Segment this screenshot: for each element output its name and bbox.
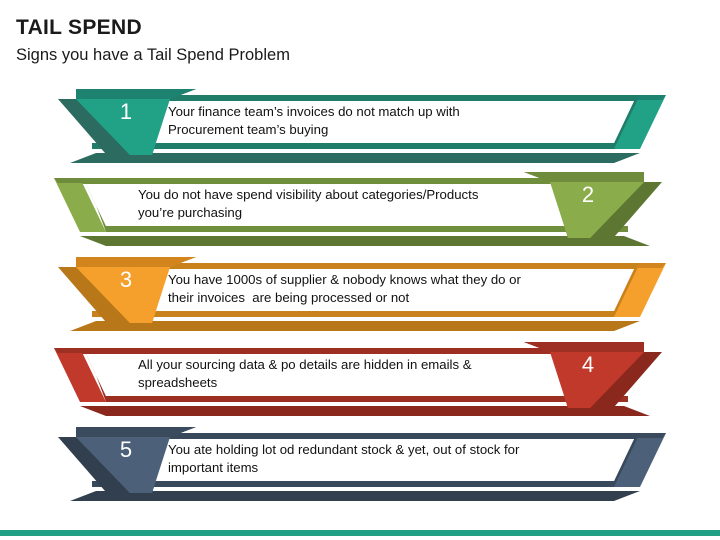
banner-text-1: Your finance team’s invoices do not matc…: [168, 103, 460, 139]
banner-row-4[interactable]: 4 All your sourcing data & po details ar…: [0, 338, 720, 418]
page-subtitle: Signs you have a Tail Spend Problem: [16, 46, 290, 65]
banner-text-5: You ate holding lot od redundant stock &…: [168, 441, 519, 477]
page-title: TAIL SPEND: [16, 16, 142, 40]
banner-number-1: 1: [106, 99, 146, 125]
footer-accent-bar: [0, 530, 720, 536]
banner-number-3: 3: [106, 267, 146, 293]
banner-number-4: 4: [568, 352, 608, 378]
banner-number-5: 5: [106, 437, 146, 463]
banner-number-2: 2: [568, 182, 608, 208]
banner-row-1[interactable]: 1 Your finance team’s invoices do not ma…: [0, 85, 720, 165]
banner-row-5[interactable]: 5 You ate holding lot od redundant stock…: [0, 423, 720, 503]
banner-text-3: You have 1000s of supplier & nobody know…: [168, 271, 521, 307]
banner-text-4: All your sourcing data & po details are …: [138, 356, 472, 392]
banner-row-3[interactable]: 3 You have 1000s of supplier & nobody kn…: [0, 253, 720, 333]
slide-canvas: TAIL SPEND Signs you have a Tail Spend P…: [0, 0, 720, 540]
banner-row-2[interactable]: 2 You do not have spend visibility about…: [0, 168, 720, 248]
banner-text-2: You do not have spend visibility about c…: [138, 186, 478, 222]
